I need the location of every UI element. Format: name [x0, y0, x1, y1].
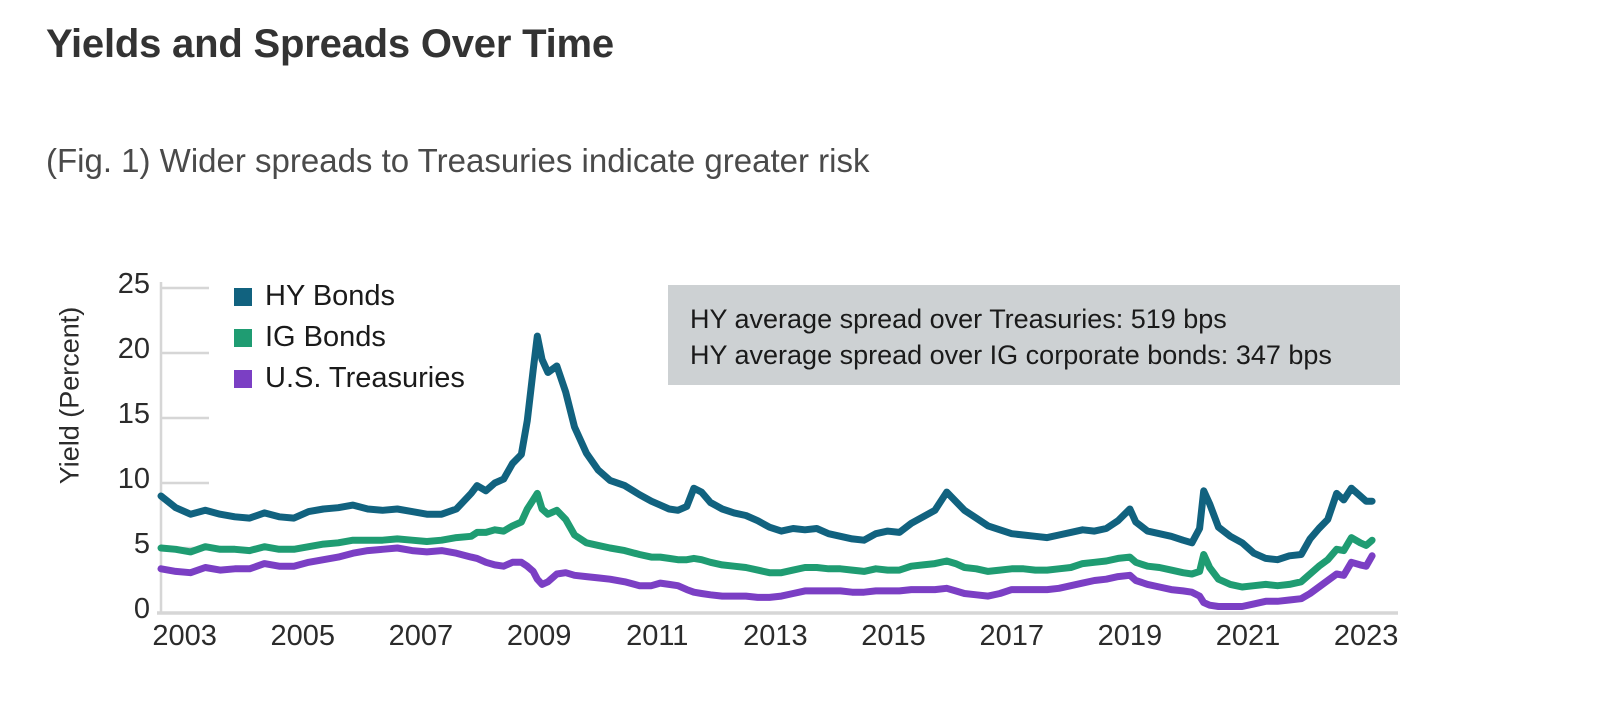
x-tick-label-2013: 2013: [720, 620, 830, 653]
legend-item-u-s-treasuries[interactable]: U.S. Treasuries: [234, 358, 465, 399]
y-tick-label-10: 10: [90, 463, 150, 496]
x-tick-label-2003: 2003: [130, 620, 240, 653]
legend-item-ig-bonds[interactable]: IG Bonds: [234, 317, 465, 358]
x-tick-label-2011: 2011: [602, 620, 712, 653]
legend-swatch-icon: [234, 288, 252, 306]
y-tick-label-15: 15: [90, 398, 150, 431]
x-tick-label-2007: 2007: [366, 620, 476, 653]
legend-item-label: HY Bonds: [265, 280, 395, 313]
y-tick-label-25: 25: [90, 268, 150, 301]
x-tick-label-2009: 2009: [484, 620, 594, 653]
y-axis-title: Yield (Percent): [55, 286, 86, 506]
x-tick-label-2015: 2015: [839, 620, 949, 653]
chart-legend: HY BondsIG BondsU.S. Treasuries: [234, 276, 465, 399]
figure-page: Yields and Spreads Over Time (Fig. 1) Wi…: [0, 0, 1601, 715]
annotation-box: HY average spread over Treasuries: 519 b…: [668, 285, 1400, 385]
legend-item-label: U.S. Treasuries: [265, 362, 465, 395]
y-tick-label-5: 5: [90, 528, 150, 561]
x-tick-label-2019: 2019: [1075, 620, 1185, 653]
legend-swatch-icon: [234, 329, 252, 347]
x-tick-label-2023: 2023: [1311, 620, 1421, 653]
annotation-line-2: HY average spread over IG corporate bond…: [690, 337, 1400, 373]
x-tick-label-2021: 2021: [1193, 620, 1303, 653]
legend-item-hy-bonds[interactable]: HY Bonds: [234, 276, 465, 317]
annotation-line-1: HY average spread over Treasuries: 519 b…: [690, 301, 1400, 337]
x-tick-label-2017: 2017: [957, 620, 1067, 653]
y-tick-label-20: 20: [90, 333, 150, 366]
x-tick-label-2005: 2005: [248, 620, 358, 653]
yields-spreads-line-chart: Yield (Percent) 0510152025 2003200520072…: [0, 0, 1601, 715]
legend-item-label: IG Bonds: [265, 321, 386, 354]
legend-swatch-icon: [234, 370, 252, 388]
